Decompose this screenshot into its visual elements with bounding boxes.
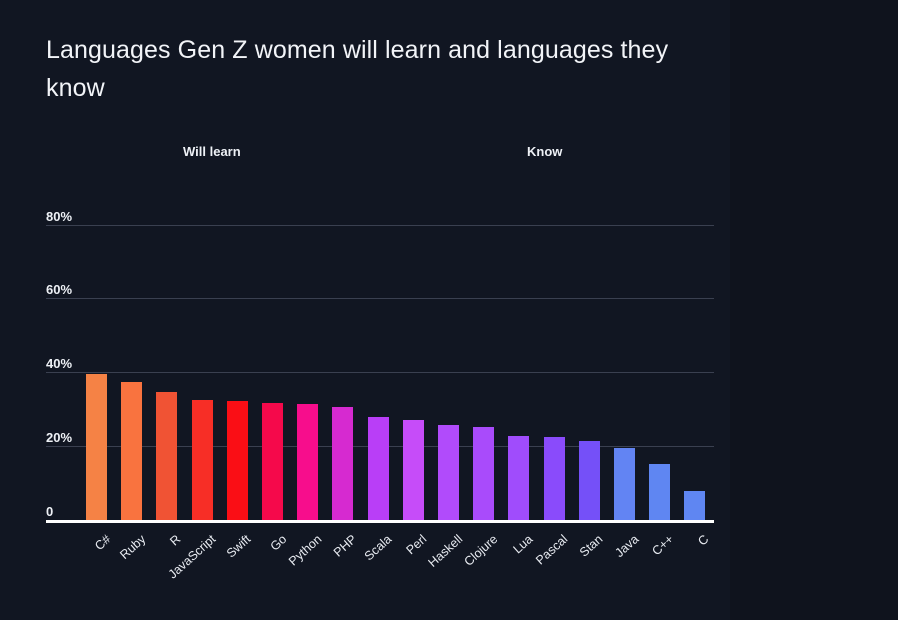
bar-pascal[interactable]: [544, 437, 565, 520]
bar-ruby[interactable]: [121, 382, 142, 520]
plot-area: 020%40%60%80%: [46, 195, 714, 525]
legend-item-will-learn: Will learn: [183, 144, 241, 159]
bar-haskell[interactable]: [438, 425, 459, 520]
x-axis-tick-c: C: [702, 526, 718, 542]
legend: Will learn Know: [46, 144, 716, 164]
bar-scala[interactable]: [368, 417, 389, 520]
bar-javascript[interactable]: [192, 400, 213, 520]
x-axis-tick-c: C#: [104, 521, 125, 542]
bar-r[interactable]: [156, 392, 177, 520]
x-axis-tick-go: Go: [280, 521, 302, 543]
bar-perl[interactable]: [403, 420, 424, 520]
bar-java[interactable]: [614, 448, 635, 520]
bar-python[interactable]: [297, 404, 318, 520]
page-title: Languages Gen Z women will learn and lan…: [46, 31, 706, 107]
x-axis-tick-labels: C#RubyRJavaScriptSwiftGoPythonPHPScalaPe…: [46, 524, 746, 614]
bar-c[interactable]: [684, 491, 705, 520]
bar-series-will-learn: [46, 195, 714, 520]
chart-page: Languages Gen Z women will learn and lan…: [0, 0, 898, 620]
bar-c[interactable]: [649, 464, 670, 521]
legend-item-know: Know: [527, 144, 562, 159]
bar-c[interactable]: [86, 374, 107, 520]
bar-go[interactable]: [262, 403, 283, 520]
x-axis-tick-r: R: [174, 526, 190, 542]
bar-php[interactable]: [332, 407, 353, 520]
